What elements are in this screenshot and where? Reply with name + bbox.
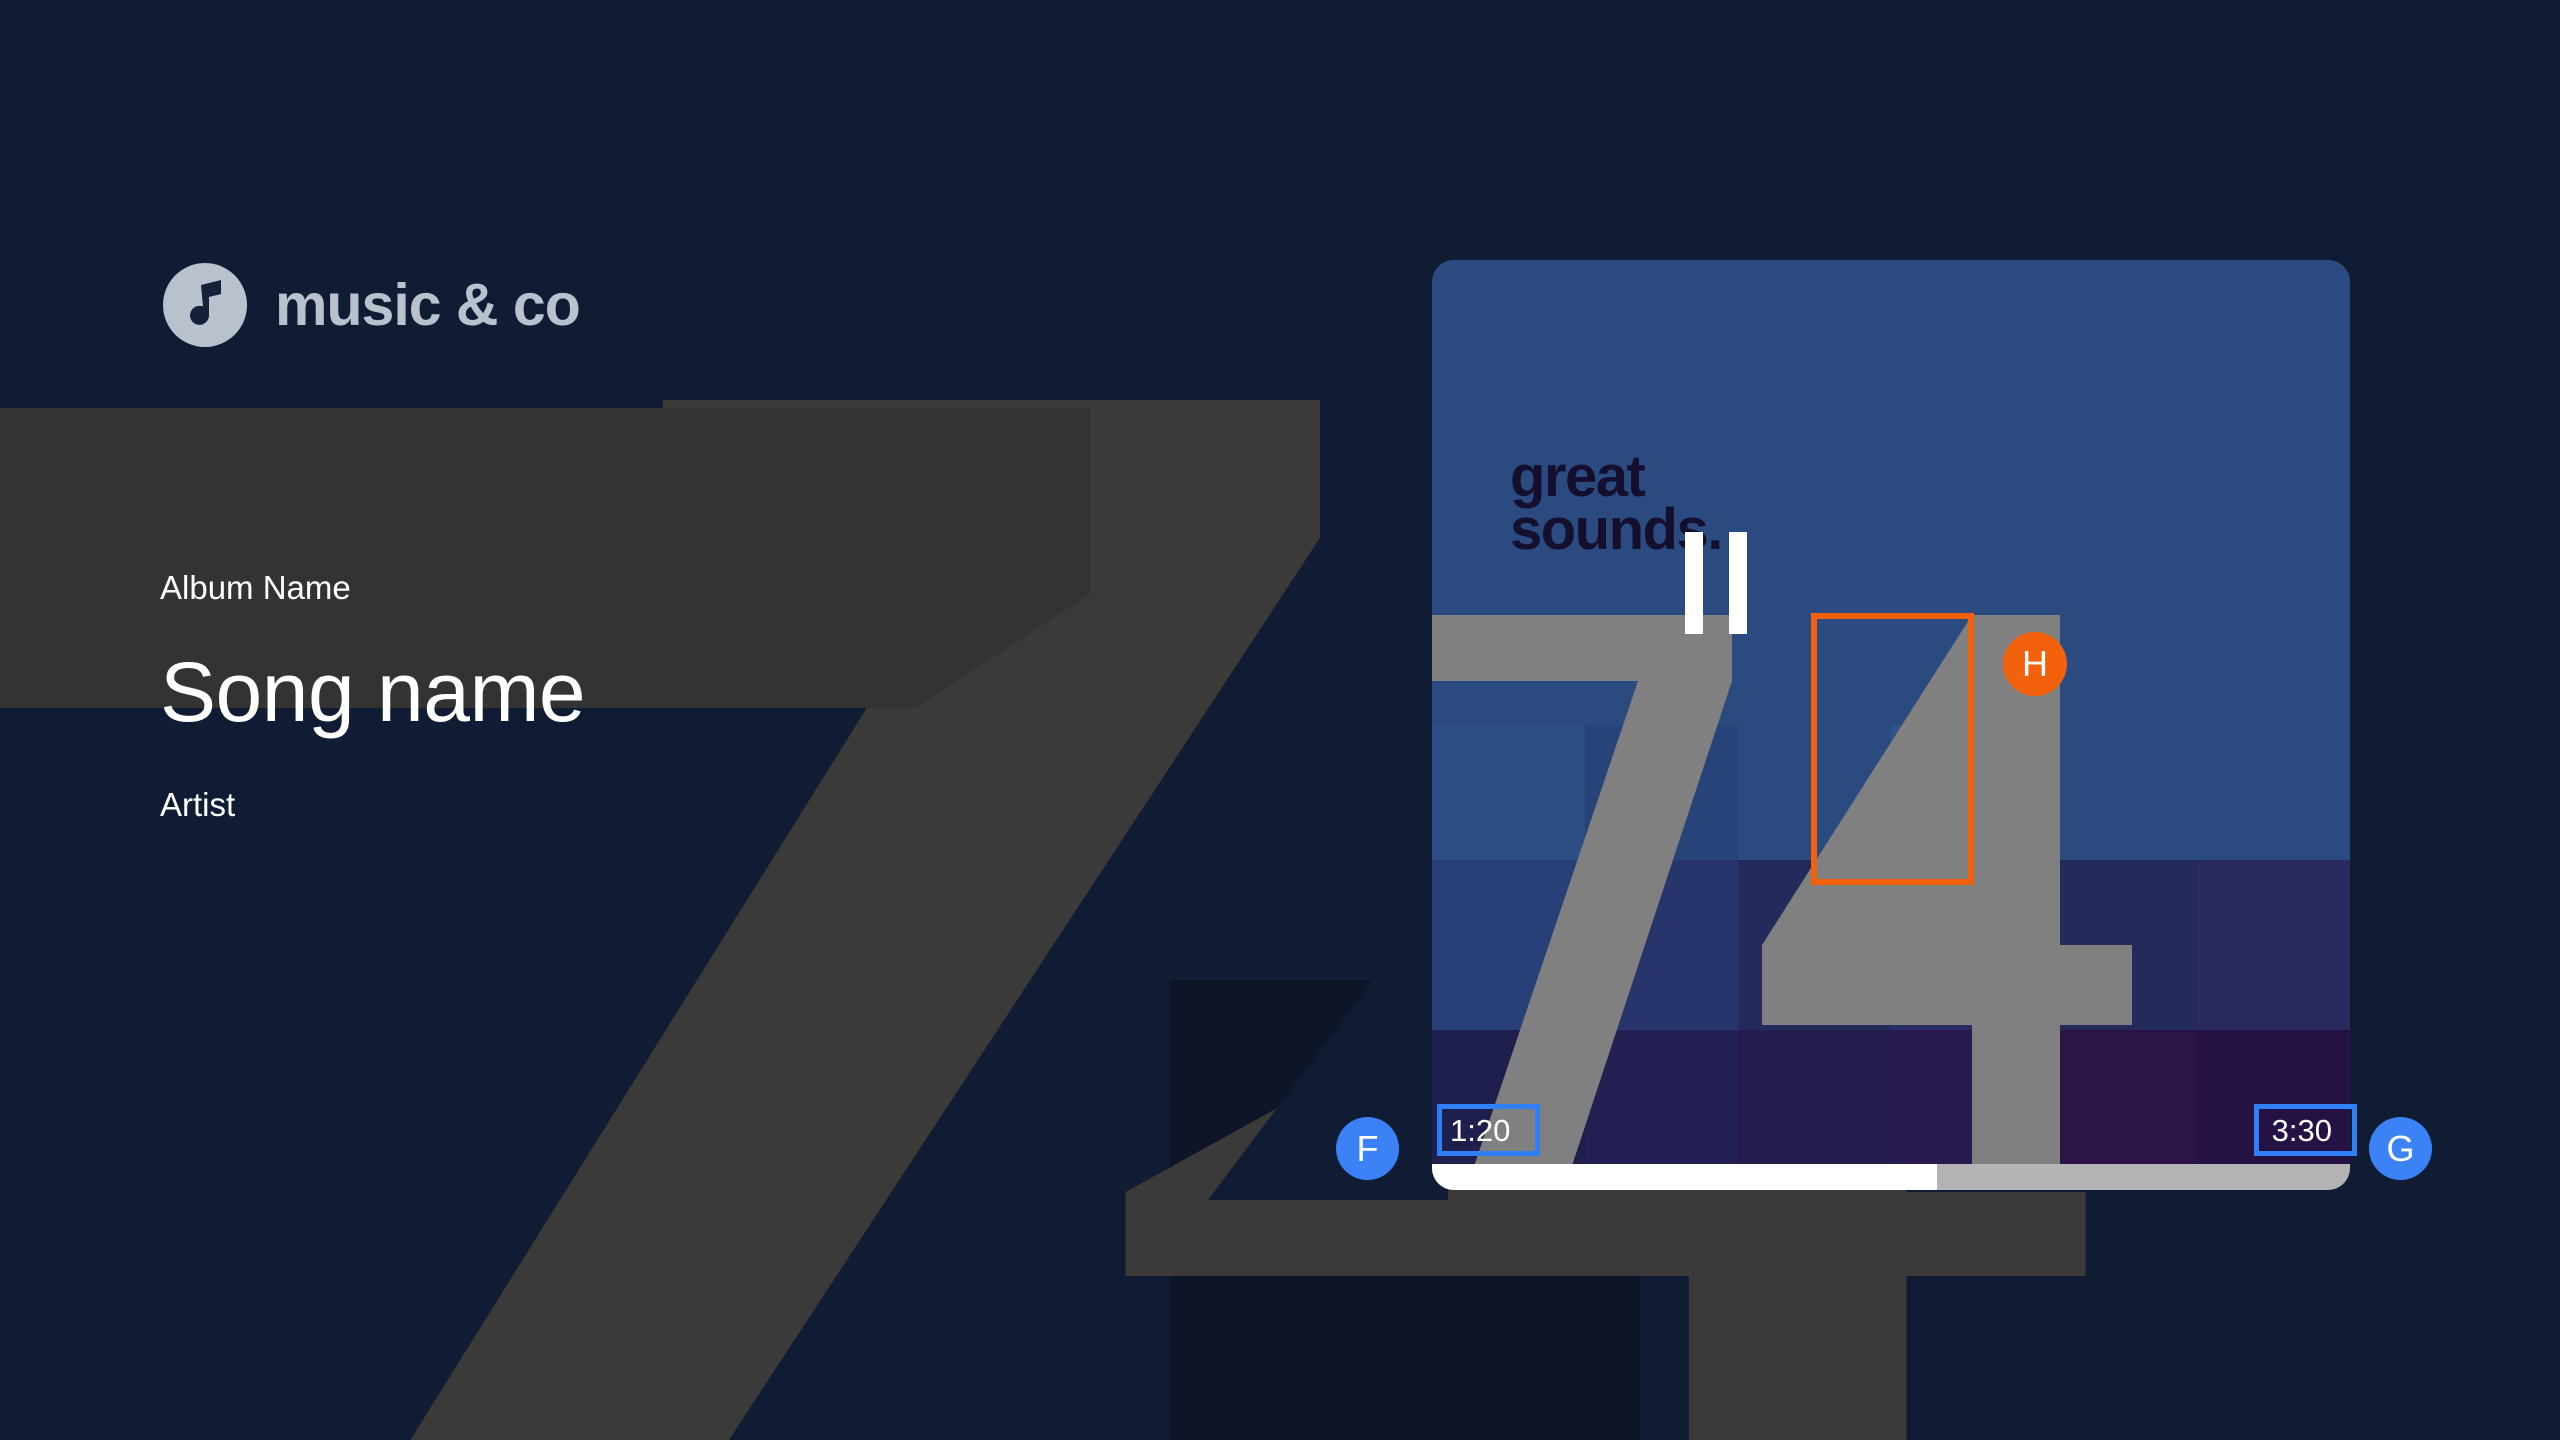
mosaic-block: [1738, 860, 1891, 1030]
mosaic-block: [2197, 860, 2350, 1030]
mosaic-block: [1891, 860, 2044, 1030]
brand-name: music & co: [275, 276, 580, 335]
mosaic-block: [1585, 725, 1738, 860]
elapsed-time: 1:20: [1450, 1115, 1510, 1146]
annotation-badge-G: G: [2369, 1117, 2432, 1180]
pause-button[interactable]: [1668, 518, 1764, 648]
mosaic-block: [1738, 725, 1891, 860]
pause-bar-right: [1729, 532, 1747, 634]
mosaic-block: [1432, 725, 1585, 860]
now-playing-metadata: Album Name Song name Artist: [160, 570, 1060, 823]
mosaic-block: [1585, 860, 1738, 1030]
mosaic-block: [1432, 615, 1585, 725]
music-player-screen: music & co Album Name Song name Artist g…: [0, 0, 2560, 1440]
mosaic-block: [2044, 860, 2197, 1030]
artist-name: Artist: [160, 787, 1060, 823]
mosaic-block: [2197, 725, 2350, 860]
mosaic-block: [2197, 615, 2350, 725]
progress-bar-fill: [1432, 1164, 1937, 1190]
song-title: Song name: [160, 646, 1060, 738]
progress-bar[interactable]: [1432, 1164, 2350, 1190]
pause-bar-left: [1685, 532, 1703, 634]
total-time: 3:30: [2272, 1115, 2332, 1146]
annotation-badge-H: H: [2003, 632, 2067, 696]
mosaic-block: [2044, 615, 2197, 725]
music-note-icon: [163, 263, 247, 347]
mosaic-block: [1891, 725, 2044, 860]
brand-logo[interactable]: music & co: [163, 263, 580, 347]
album-art-card[interactable]: great sounds. 1:20 3:30: [1432, 260, 2350, 1190]
album-name: Album Name: [160, 570, 1060, 606]
annotation-badge-F: F: [1336, 1117, 1399, 1180]
mosaic-block: [1432, 860, 1585, 1030]
mosaic-block: [2044, 725, 2197, 860]
album-art-mosaic: [1432, 615, 2350, 1190]
